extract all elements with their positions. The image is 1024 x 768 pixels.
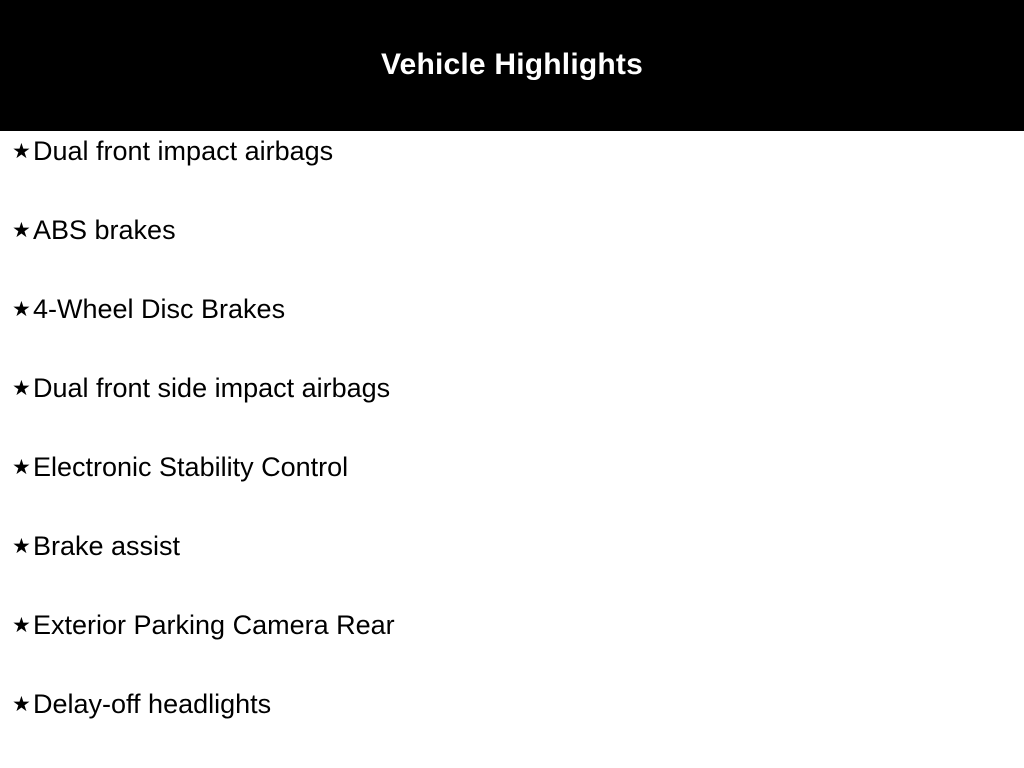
highlight-label: Electronic Stability Control [32,447,348,488]
list-item: ★ Delay-off headlights [0,684,1024,763]
star-icon: ★ [0,605,32,646]
star-icon: ★ [0,684,32,725]
star-icon: ★ [0,526,32,567]
highlight-label: 4-Wheel Disc Brakes [32,289,285,330]
vehicle-highlights-page: Vehicle Highlights ★ Dual front impact a… [0,0,1024,768]
highlight-label: Dual front side impact airbags [32,368,390,409]
highlight-label: Brake assist [32,526,180,567]
highlight-label: Delay-off headlights [32,684,271,725]
list-item: ★ 4-Wheel Disc Brakes [0,289,1024,368]
star-icon: ★ [0,210,32,251]
list-item: ★ Exterior Parking Camera Rear [0,605,1024,684]
vehicle-highlights-list: ★ Dual front impact airbags ★ ABS brakes… [0,131,1024,763]
star-icon: ★ [0,447,32,488]
list-item: ★ ABS brakes [0,210,1024,289]
list-item: ★ Dual front impact airbags [0,131,1024,210]
highlight-label: Dual front impact airbags [32,131,333,172]
star-icon: ★ [0,131,32,172]
star-icon: ★ [0,289,32,330]
header-banner: Vehicle Highlights [0,0,1024,131]
page-title: Vehicle Highlights [381,48,643,82]
list-item: ★ Dual front side impact airbags [0,368,1024,447]
list-item: ★ Electronic Stability Control [0,447,1024,526]
star-icon: ★ [0,368,32,409]
list-item: ★ Brake assist [0,526,1024,605]
highlight-label: Exterior Parking Camera Rear [32,605,395,646]
highlight-label: ABS brakes [32,210,176,251]
